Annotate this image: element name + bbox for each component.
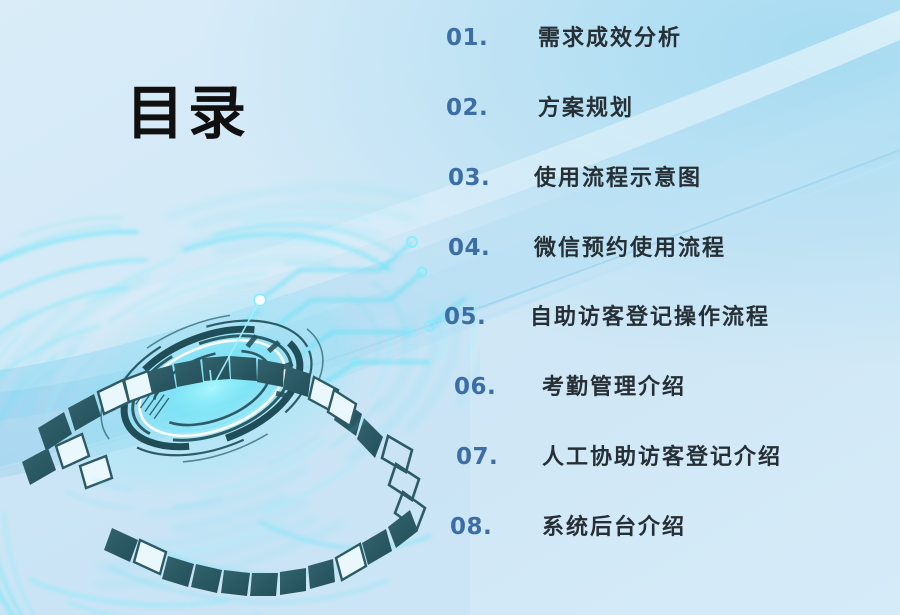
toc-number: 07. bbox=[440, 444, 542, 470]
toc-item-03[interactable]: 03. 使用流程示意图 bbox=[440, 160, 890, 196]
toc-number: 04. bbox=[440, 235, 534, 261]
toc-label: 系统后台介绍 bbox=[536, 509, 686, 541]
toc-label: 微信预约使用流程 bbox=[534, 230, 726, 262]
toc-number: 01. bbox=[440, 25, 532, 51]
toc-item-08[interactable]: 08. 系统后台介绍 bbox=[440, 509, 890, 545]
toc-item-07[interactable]: 07. 人工协助访客登记介绍 bbox=[440, 439, 890, 475]
toc-item-01[interactable]: 01. 需求成效分析 bbox=[440, 20, 890, 56]
toc-label: 需求成效分析 bbox=[532, 20, 682, 52]
slide-root: 目录 01. 需求成效分析 02. 方案规划 03. 使用流程示意图 04. 微… bbox=[0, 0, 900, 615]
toc-item-06[interactable]: 06. 考勤管理介绍 bbox=[440, 369, 890, 405]
toc-label: 人工协助访客登记介绍 bbox=[542, 439, 782, 471]
toc-label: 使用流程示意图 bbox=[534, 160, 702, 192]
toc-item-02[interactable]: 02. 方案规划 bbox=[440, 90, 890, 126]
toc-number: 08. bbox=[440, 514, 536, 540]
tech-hud-ring-graphic bbox=[0, 150, 480, 615]
toc-number: 06. bbox=[440, 374, 540, 400]
toc-number: 02. bbox=[440, 95, 532, 121]
toc-item-04[interactable]: 04. 微信预约使用流程 bbox=[440, 230, 890, 266]
toc-list: 01. 需求成效分析 02. 方案规划 03. 使用流程示意图 04. 微信预约… bbox=[440, 20, 890, 545]
toc-label: 方案规划 bbox=[532, 90, 634, 122]
toc-number: 05. bbox=[440, 304, 530, 330]
toc-label: 考勤管理介绍 bbox=[540, 369, 686, 401]
toc-label: 自助访客登记操作流程 bbox=[530, 299, 770, 331]
page-title: 目录 bbox=[126, 84, 250, 142]
toc-item-05[interactable]: 05. 自助访客登记操作流程 bbox=[440, 299, 890, 335]
toc-number: 03. bbox=[440, 165, 534, 191]
